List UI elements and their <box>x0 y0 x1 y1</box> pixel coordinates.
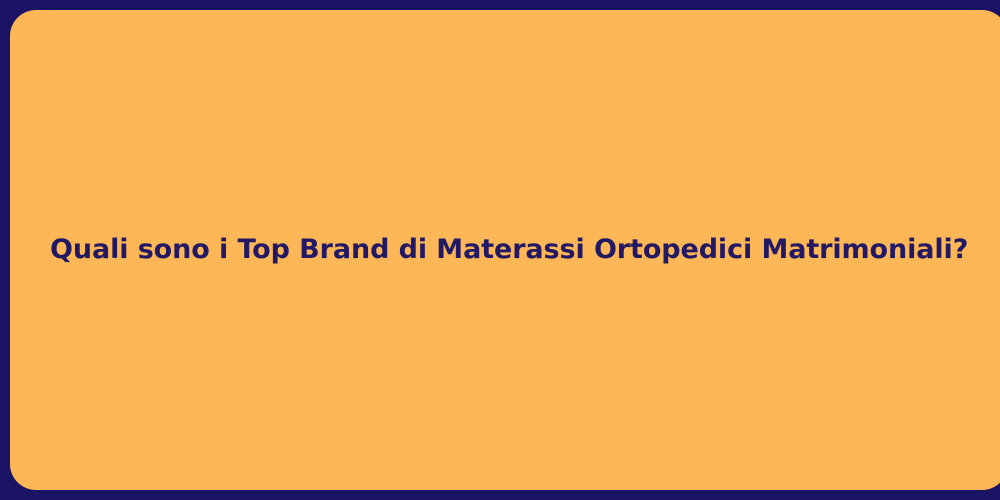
banner-frame: Quali sono i Top Brand di Materassi Orto… <box>0 0 1000 500</box>
banner-card: Quali sono i Top Brand di Materassi Orto… <box>10 10 1000 490</box>
page-title: Quali sono i Top Brand di Materassi Orto… <box>50 232 968 267</box>
